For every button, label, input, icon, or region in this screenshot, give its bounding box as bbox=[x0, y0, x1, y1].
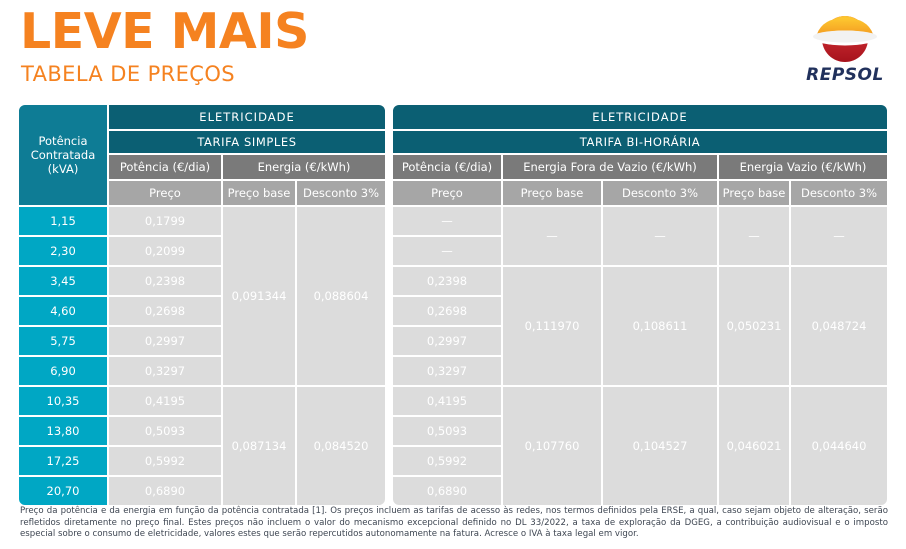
cell-fora-vazio-preco-base: 0,107760 bbox=[502, 386, 602, 506]
cell-potencia: 0,2698 bbox=[392, 296, 502, 326]
group-header-energia-vazio: Energia Vazio (€/kWh) bbox=[718, 154, 888, 180]
cell-energia-preco-base: 0,091344 bbox=[222, 206, 296, 386]
subheader-0: Preço bbox=[392, 180, 502, 206]
cell-potencia: — bbox=[392, 206, 502, 236]
cell-potencia: — bbox=[392, 236, 502, 266]
cell-kva: 10,35 bbox=[18, 386, 108, 416]
cell-fora-vazio-preco-base: 0,111970 bbox=[502, 266, 602, 386]
logo-wordmark: REPSOL bbox=[806, 65, 884, 85]
cell-energia-desconto: 0,084520 bbox=[296, 386, 386, 506]
cell-potencia: 0,1799 bbox=[108, 206, 222, 236]
logo-band-shadow bbox=[813, 31, 877, 43]
header-row-subheaders: PreçoPreço baseDesconto 3%Preço baseDesc… bbox=[392, 180, 888, 206]
group-header-potencia: Potência (€/dia) bbox=[108, 154, 222, 180]
table-row: 1,150,17990,0913440,088604 bbox=[18, 206, 386, 236]
cell-potencia: 0,6890 bbox=[108, 476, 222, 506]
tariff-label-simples: TARIFA SIMPLES bbox=[108, 130, 386, 154]
subheader-1: Preço base bbox=[222, 180, 296, 206]
cell-potencia: 0,2997 bbox=[392, 326, 502, 356]
cell-potencia: 0,2398 bbox=[108, 266, 222, 296]
cell-kva: 1,15 bbox=[18, 206, 108, 236]
cell-kva: 13,80 bbox=[18, 416, 108, 446]
subheader-2: Desconto 3% bbox=[296, 180, 386, 206]
cell-fora-vazio-desconto: — bbox=[602, 206, 718, 266]
subheader-3: Preço base bbox=[718, 180, 790, 206]
cell-potencia: 0,5093 bbox=[108, 416, 222, 446]
cell-kva: 2,30 bbox=[18, 236, 108, 266]
band-title-eletricidade: ELETRICIDADE bbox=[392, 104, 888, 130]
group-header-potencia: Potência (€/dia) bbox=[392, 154, 502, 180]
cell-kva: 17,25 bbox=[18, 446, 108, 476]
cell-vazio-desconto: — bbox=[790, 206, 888, 266]
page-title: LEVE MAIS bbox=[20, 6, 309, 58]
footnote-text: Preço da potência e da energia em função… bbox=[20, 506, 888, 541]
cell-potencia: 0,4195 bbox=[392, 386, 502, 416]
price-table-bihoraria: ELETRICIDADETARIFA BI-HORÁRIAPotência (€… bbox=[392, 104, 888, 506]
cell-potencia: 0,2398 bbox=[392, 266, 502, 296]
cell-kva: 4,60 bbox=[18, 296, 108, 326]
cell-potencia: 0,3297 bbox=[392, 356, 502, 386]
cell-kva: 5,75 bbox=[18, 326, 108, 356]
cell-potencia: 0,2099 bbox=[108, 236, 222, 266]
table-row: 0,23980,1119700,1086110,0502310,048724 bbox=[392, 266, 888, 296]
page-subtitle: TABELA DE PREÇOS bbox=[21, 62, 235, 86]
cell-fora-vazio-desconto: 0,108611 bbox=[602, 266, 718, 386]
cell-potencia: 0,5992 bbox=[108, 446, 222, 476]
header-row-tariff: TARIFA BI-HORÁRIA bbox=[392, 130, 888, 154]
cell-vazio-desconto: 0,048724 bbox=[790, 266, 888, 386]
cell-fora-vazio-preco-base: — bbox=[502, 206, 602, 266]
tariff-label-bihoraria: TARIFA BI-HORÁRIA bbox=[392, 130, 888, 154]
cell-potencia: 0,2997 bbox=[108, 326, 222, 356]
header-row-band: ELETRICIDADE bbox=[392, 104, 888, 130]
repsol-logo: REPSOL bbox=[795, 8, 895, 90]
cell-fora-vazio-desconto: 0,104527 bbox=[602, 386, 718, 506]
cell-kva: 6,90 bbox=[18, 356, 108, 386]
cell-kva: 20,70 bbox=[18, 476, 108, 506]
cell-vazio-preco-base: 0,050231 bbox=[718, 266, 790, 386]
cell-potencia: 0,3297 bbox=[108, 356, 222, 386]
cell-vazio-desconto: 0,044640 bbox=[790, 386, 888, 506]
subheader-2: Desconto 3% bbox=[602, 180, 718, 206]
header-row-groups: Potência (€/dia)Energia Fora de Vazio (€… bbox=[392, 154, 888, 180]
cell-vazio-preco-base: — bbox=[718, 206, 790, 266]
subheader-1: Preço base bbox=[502, 180, 602, 206]
table-row: 10,350,41950,0871340,084520 bbox=[18, 386, 386, 416]
cell-energia-preco-base: 0,087134 bbox=[222, 386, 296, 506]
subheader-4: Desconto 3% bbox=[790, 180, 888, 206]
table-row: ————— bbox=[392, 206, 888, 236]
cell-kva: 3,45 bbox=[18, 266, 108, 296]
corner-label-potencia-contratada: Potência Contratada (kVA) bbox=[18, 104, 108, 206]
table-row: 0,41950,1077600,1045270,0460210,044640 bbox=[392, 386, 888, 416]
cell-vazio-preco-base: 0,046021 bbox=[718, 386, 790, 506]
header-row-band: Potência Contratada (kVA)ELETRICIDADE bbox=[18, 104, 386, 130]
cell-potencia: 0,4195 bbox=[108, 386, 222, 416]
page-header: LEVE MAIS TABELA DE PREÇOS bbox=[0, 0, 906, 100]
band-title-eletricidade: ELETRICIDADE bbox=[108, 104, 386, 130]
group-header-energia-fora-de-vazio: Energia Fora de Vazio (€/kWh) bbox=[502, 154, 718, 180]
cell-potencia: 0,5093 bbox=[392, 416, 502, 446]
cell-energia-desconto: 0,088604 bbox=[296, 206, 386, 386]
cell-potencia: 0,5992 bbox=[392, 446, 502, 476]
group-header-energia: Energia (€/kWh) bbox=[222, 154, 386, 180]
cell-potencia: 0,2698 bbox=[108, 296, 222, 326]
price-table-simple: Potência Contratada (kVA)ELETRICIDADETAR… bbox=[18, 104, 386, 506]
cell-potencia: 0,6890 bbox=[392, 476, 502, 506]
subheader-0: Preço bbox=[108, 180, 222, 206]
